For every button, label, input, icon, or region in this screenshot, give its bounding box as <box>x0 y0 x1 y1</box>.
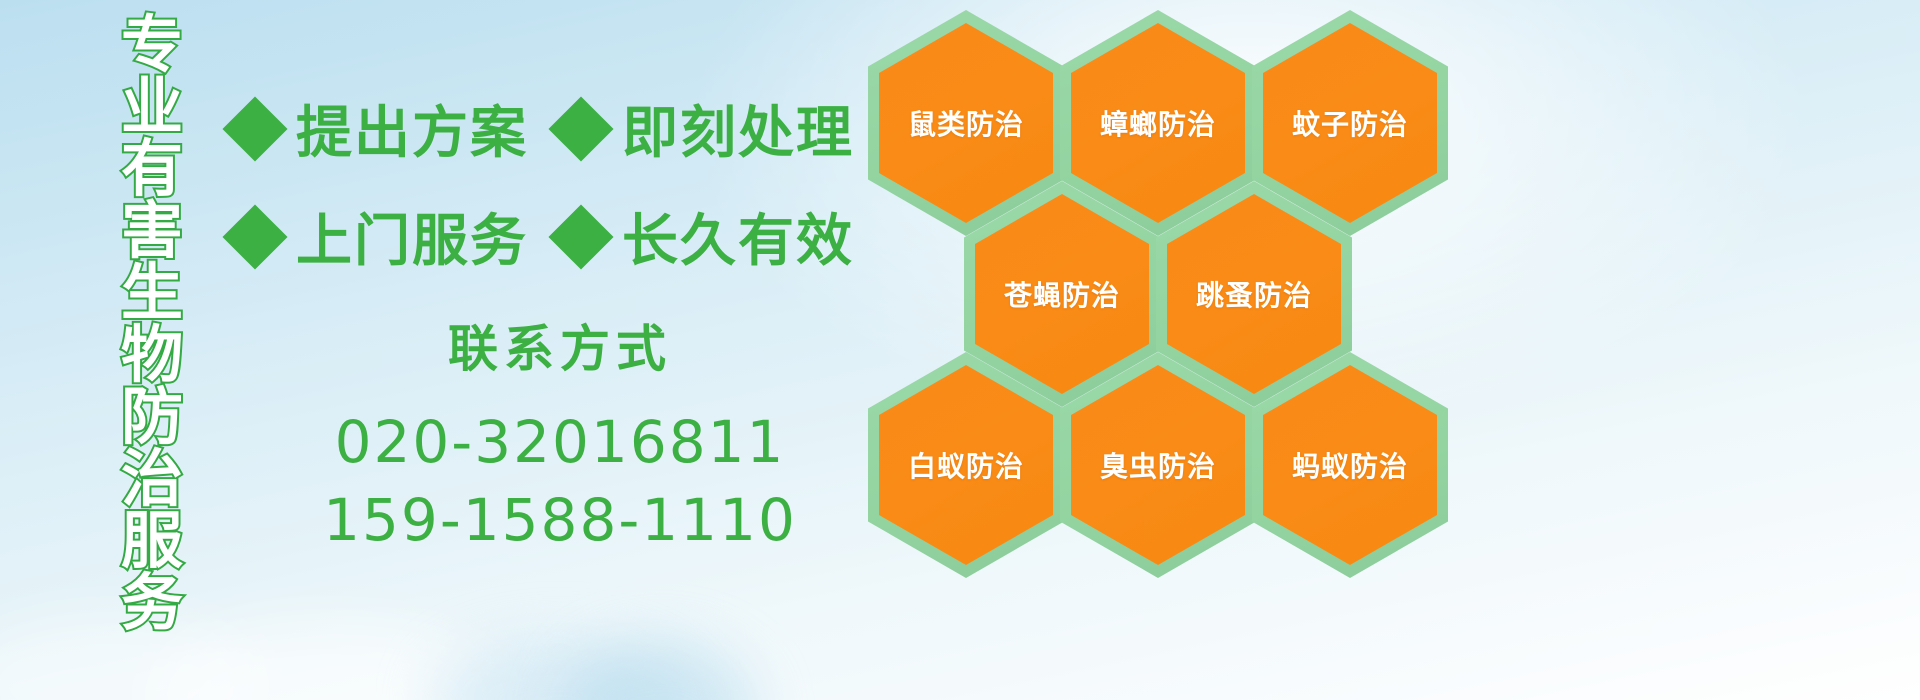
feature-item-long-lasting: 长久有效 <box>558 196 854 277</box>
vertical-headline-char: 治 <box>121 448 183 510</box>
hex-cell-termite-control[interactable]: 白蚁防治 <box>868 352 1064 578</box>
phone-number-mobile[interactable]: 159-1588-1110 <box>300 481 820 559</box>
diamond-icon <box>222 204 287 269</box>
feature-label: 即刻处理 <box>622 88 854 169</box>
hex-label: 白蚁防治 <box>908 445 1024 485</box>
feature-label: 长久有效 <box>622 196 854 277</box>
diamond-icon <box>222 96 287 161</box>
contact-block: 联系方式 020-32016811 159-1588-1110 <box>300 318 820 559</box>
feature-item-onsite-service: 上门服务 <box>232 196 528 277</box>
vertical-headline: 专 业 有 害 生 物 防 治 服 务 <box>108 14 196 574</box>
phone-number-landline[interactable]: 020-32016811 <box>300 403 820 481</box>
diamond-icon <box>548 204 613 269</box>
background-blob <box>560 640 760 700</box>
hex-cell-ant-control[interactable]: 蚂蚁防治 <box>1252 352 1448 578</box>
pest-control-banner: 专 业 有 害 生 物 防 治 服 务 提出方案 即刻处理 上门服务 长久有效 <box>0 0 1920 700</box>
vertical-headline-char: 业 <box>121 76 183 138</box>
service-honeycomb: 鼠类防治 蟑螂防治 蚊子防治 苍蝇防治 跳蚤防治 <box>862 0 1462 580</box>
vertical-headline-char: 物 <box>121 324 183 386</box>
vertical-headline-char: 专 <box>121 14 183 76</box>
vertical-headline-char: 服 <box>121 510 183 572</box>
feature-label: 提出方案 <box>296 88 528 169</box>
hex-label: 鼠类防治 <box>908 103 1024 143</box>
hex-label: 苍蝇防治 <box>1004 274 1120 314</box>
vertical-headline-char: 害 <box>121 200 183 262</box>
background-blob <box>150 620 510 700</box>
feature-item-immediate-handling: 即刻处理 <box>558 88 854 169</box>
feature-row: 提出方案 即刻处理 <box>232 88 854 169</box>
vertical-headline-char: 务 <box>121 572 183 634</box>
hex-label: 蟑螂防治 <box>1100 103 1216 143</box>
hex-label: 臭虫防治 <box>1100 445 1216 485</box>
contact-heading: 联系方式 <box>300 318 820 381</box>
vertical-headline-char: 有 <box>121 138 183 200</box>
hex-label: 蚊子防治 <box>1292 103 1408 143</box>
vertical-headline-char: 生 <box>121 262 183 324</box>
feature-item-propose-plan: 提出方案 <box>232 88 528 169</box>
hex-label: 蚂蚁防治 <box>1292 445 1408 485</box>
background-blob <box>430 640 690 700</box>
feature-label: 上门服务 <box>296 196 528 277</box>
vertical-headline-char: 防 <box>121 386 183 448</box>
hex-cell-bedbug-control[interactable]: 臭虫防治 <box>1060 352 1256 578</box>
feature-row: 上门服务 长久有效 <box>232 196 854 277</box>
diamond-icon <box>548 96 613 161</box>
hex-label: 跳蚤防治 <box>1196 274 1312 314</box>
